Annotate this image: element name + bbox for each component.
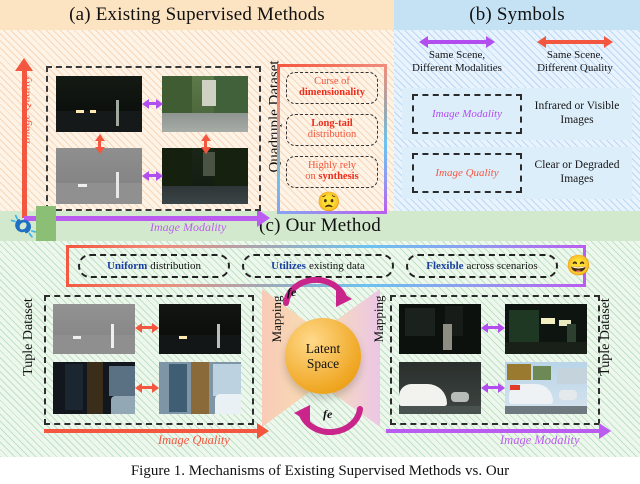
image-quality-axis-label-c: Image Quality xyxy=(158,433,230,448)
drawback-line-2: on synthesis xyxy=(305,172,358,183)
thumbnail-infrared-degraded xyxy=(56,148,142,204)
smiling-face-emoji: 😄 xyxy=(566,253,591,278)
worried-face-emoji: 😟 xyxy=(317,190,341,214)
feature-flexible-across-scenarios: Flexible across scenarios xyxy=(406,254,558,278)
symbol-caption-line-2: Different Modalities xyxy=(402,62,512,75)
feature-bold-word: Utilizes xyxy=(271,260,306,272)
tuple-dataset-right-box xyxy=(390,295,600,425)
symbol-caption-line-1: Same Scene, xyxy=(402,49,512,62)
legend-desc-line-1: Clear or Degraded xyxy=(522,159,632,173)
legend-desc-line-1: Infrared or Visible xyxy=(522,100,632,114)
thumbnail-visible-degraded-left xyxy=(53,362,135,414)
arrow-quality-left xyxy=(98,140,101,148)
thumbnail-visible-degraded xyxy=(162,148,248,204)
drawback-line-2: dimensionality xyxy=(299,88,365,99)
arrow-quality-tuple-bottom-left xyxy=(141,386,153,389)
arrow-modality-tuple-top-right xyxy=(487,326,499,329)
panel-a-body: Image Quality Image Modality xyxy=(0,30,394,211)
latent-line-1: Latent xyxy=(306,341,340,356)
arrow-quality-right xyxy=(204,140,207,148)
panel-c-body: Uniform distribution Utilizes existing d… xyxy=(0,241,640,457)
fe-label-top: fe xyxy=(287,285,296,300)
legend-row-image-quality: Image Quality Clear or Degraded Images xyxy=(402,147,632,199)
latent-line-2: Space xyxy=(307,356,339,371)
figure-caption: Figure 1. Mechanisms of Existing Supervi… xyxy=(0,457,640,484)
drawback-item-long-tail-distribution: Long-tail distribution xyxy=(286,114,378,146)
fe-text-top: fe xyxy=(287,285,296,299)
arrow-quality-tuple-top-left xyxy=(141,326,153,329)
feature-bold-word: Flexible xyxy=(426,260,463,272)
symbol-caption-line-2: Different Quality xyxy=(520,62,630,75)
thumbnail-visible-dark-right xyxy=(399,304,481,354)
thumbnail-visible-clear-left xyxy=(159,362,241,414)
thumbnail-ir-degraded-left xyxy=(159,304,241,354)
symbol-modality-arrow-legend: Same Scene, Different Modalities xyxy=(402,36,512,75)
symbol-caption-line-1: Same Scene, xyxy=(520,49,630,62)
feature-rest-text: across scenarios xyxy=(467,260,538,272)
arrow-modality-bottom xyxy=(148,174,157,177)
double-arrow-red-icon xyxy=(544,40,606,44)
double-arrow-purple-icon xyxy=(426,40,488,44)
mapping-label-right: Mapping xyxy=(371,274,387,364)
drawback-line-2-bold: synthesis xyxy=(318,171,358,182)
chip-image-modality: Image Modality xyxy=(412,94,522,134)
thumbnail-infrared-dark xyxy=(56,76,142,132)
feature-bold-word: Uniform xyxy=(107,260,147,272)
legend-desc-line-2: Images xyxy=(522,173,632,187)
fe-label-bottom: fe xyxy=(323,407,332,422)
image-modality-axis-label-c: Image Modality xyxy=(500,433,580,448)
drawback-item-highly-rely-on-synthesis: Highly rely on synthesis xyxy=(286,156,378,188)
tuple-dataset-left-box xyxy=(44,295,254,425)
drawback-line-2: distribution xyxy=(308,130,356,141)
drawback-item-curse-of-dimensionality: Curse of dimensionality xyxy=(286,72,378,104)
feature-rest-text: existing data xyxy=(309,260,365,272)
fe-text-bottom: fe xyxy=(323,407,332,421)
feature-rest-text: distribution xyxy=(150,260,201,272)
legend-desc-line-2: Images xyxy=(522,114,632,128)
thumbnail-ir-clear-left xyxy=(53,304,135,354)
thumbnail-visible-clear xyxy=(162,76,248,132)
panel-a-title: (a) Existing Supervised Methods xyxy=(0,0,394,30)
panel-b-title: (b) Symbols xyxy=(394,0,640,30)
arrow-modality-top xyxy=(148,102,157,105)
feature-uniform-distribution: Uniform distribution xyxy=(78,254,230,278)
quadruple-dataset-box xyxy=(46,66,261,211)
arrow-modality-tuple-bottom-right xyxy=(487,386,499,389)
legend-row-image-modality: Image Modality Infrared or Visible Image… xyxy=(402,88,632,140)
thumbnail-visible-car-right xyxy=(505,362,587,414)
image-modality-axis-label: Image Modality xyxy=(150,220,226,235)
chip-image-quality: Image Quality xyxy=(412,153,522,193)
tuple-dataset-left-label: Tuple Dataset xyxy=(21,267,37,407)
latent-space-node: Latent Space xyxy=(285,318,361,394)
panel-b-body: Same Scene, Different Modalities Same Sc… xyxy=(394,30,640,211)
symbol-quality-arrow-legend: Same Scene, Different Quality xyxy=(520,36,630,75)
recycle-icon xyxy=(10,214,36,240)
tuple-dataset-right-label: Tuple Dataset xyxy=(598,267,614,407)
thumbnail-visible-night-right xyxy=(505,304,587,354)
image-quality-axis-label: Image Quality xyxy=(19,62,34,158)
drawback-line-2-prefix: on xyxy=(305,171,318,182)
thumbnail-ir-car-right xyxy=(399,362,481,414)
